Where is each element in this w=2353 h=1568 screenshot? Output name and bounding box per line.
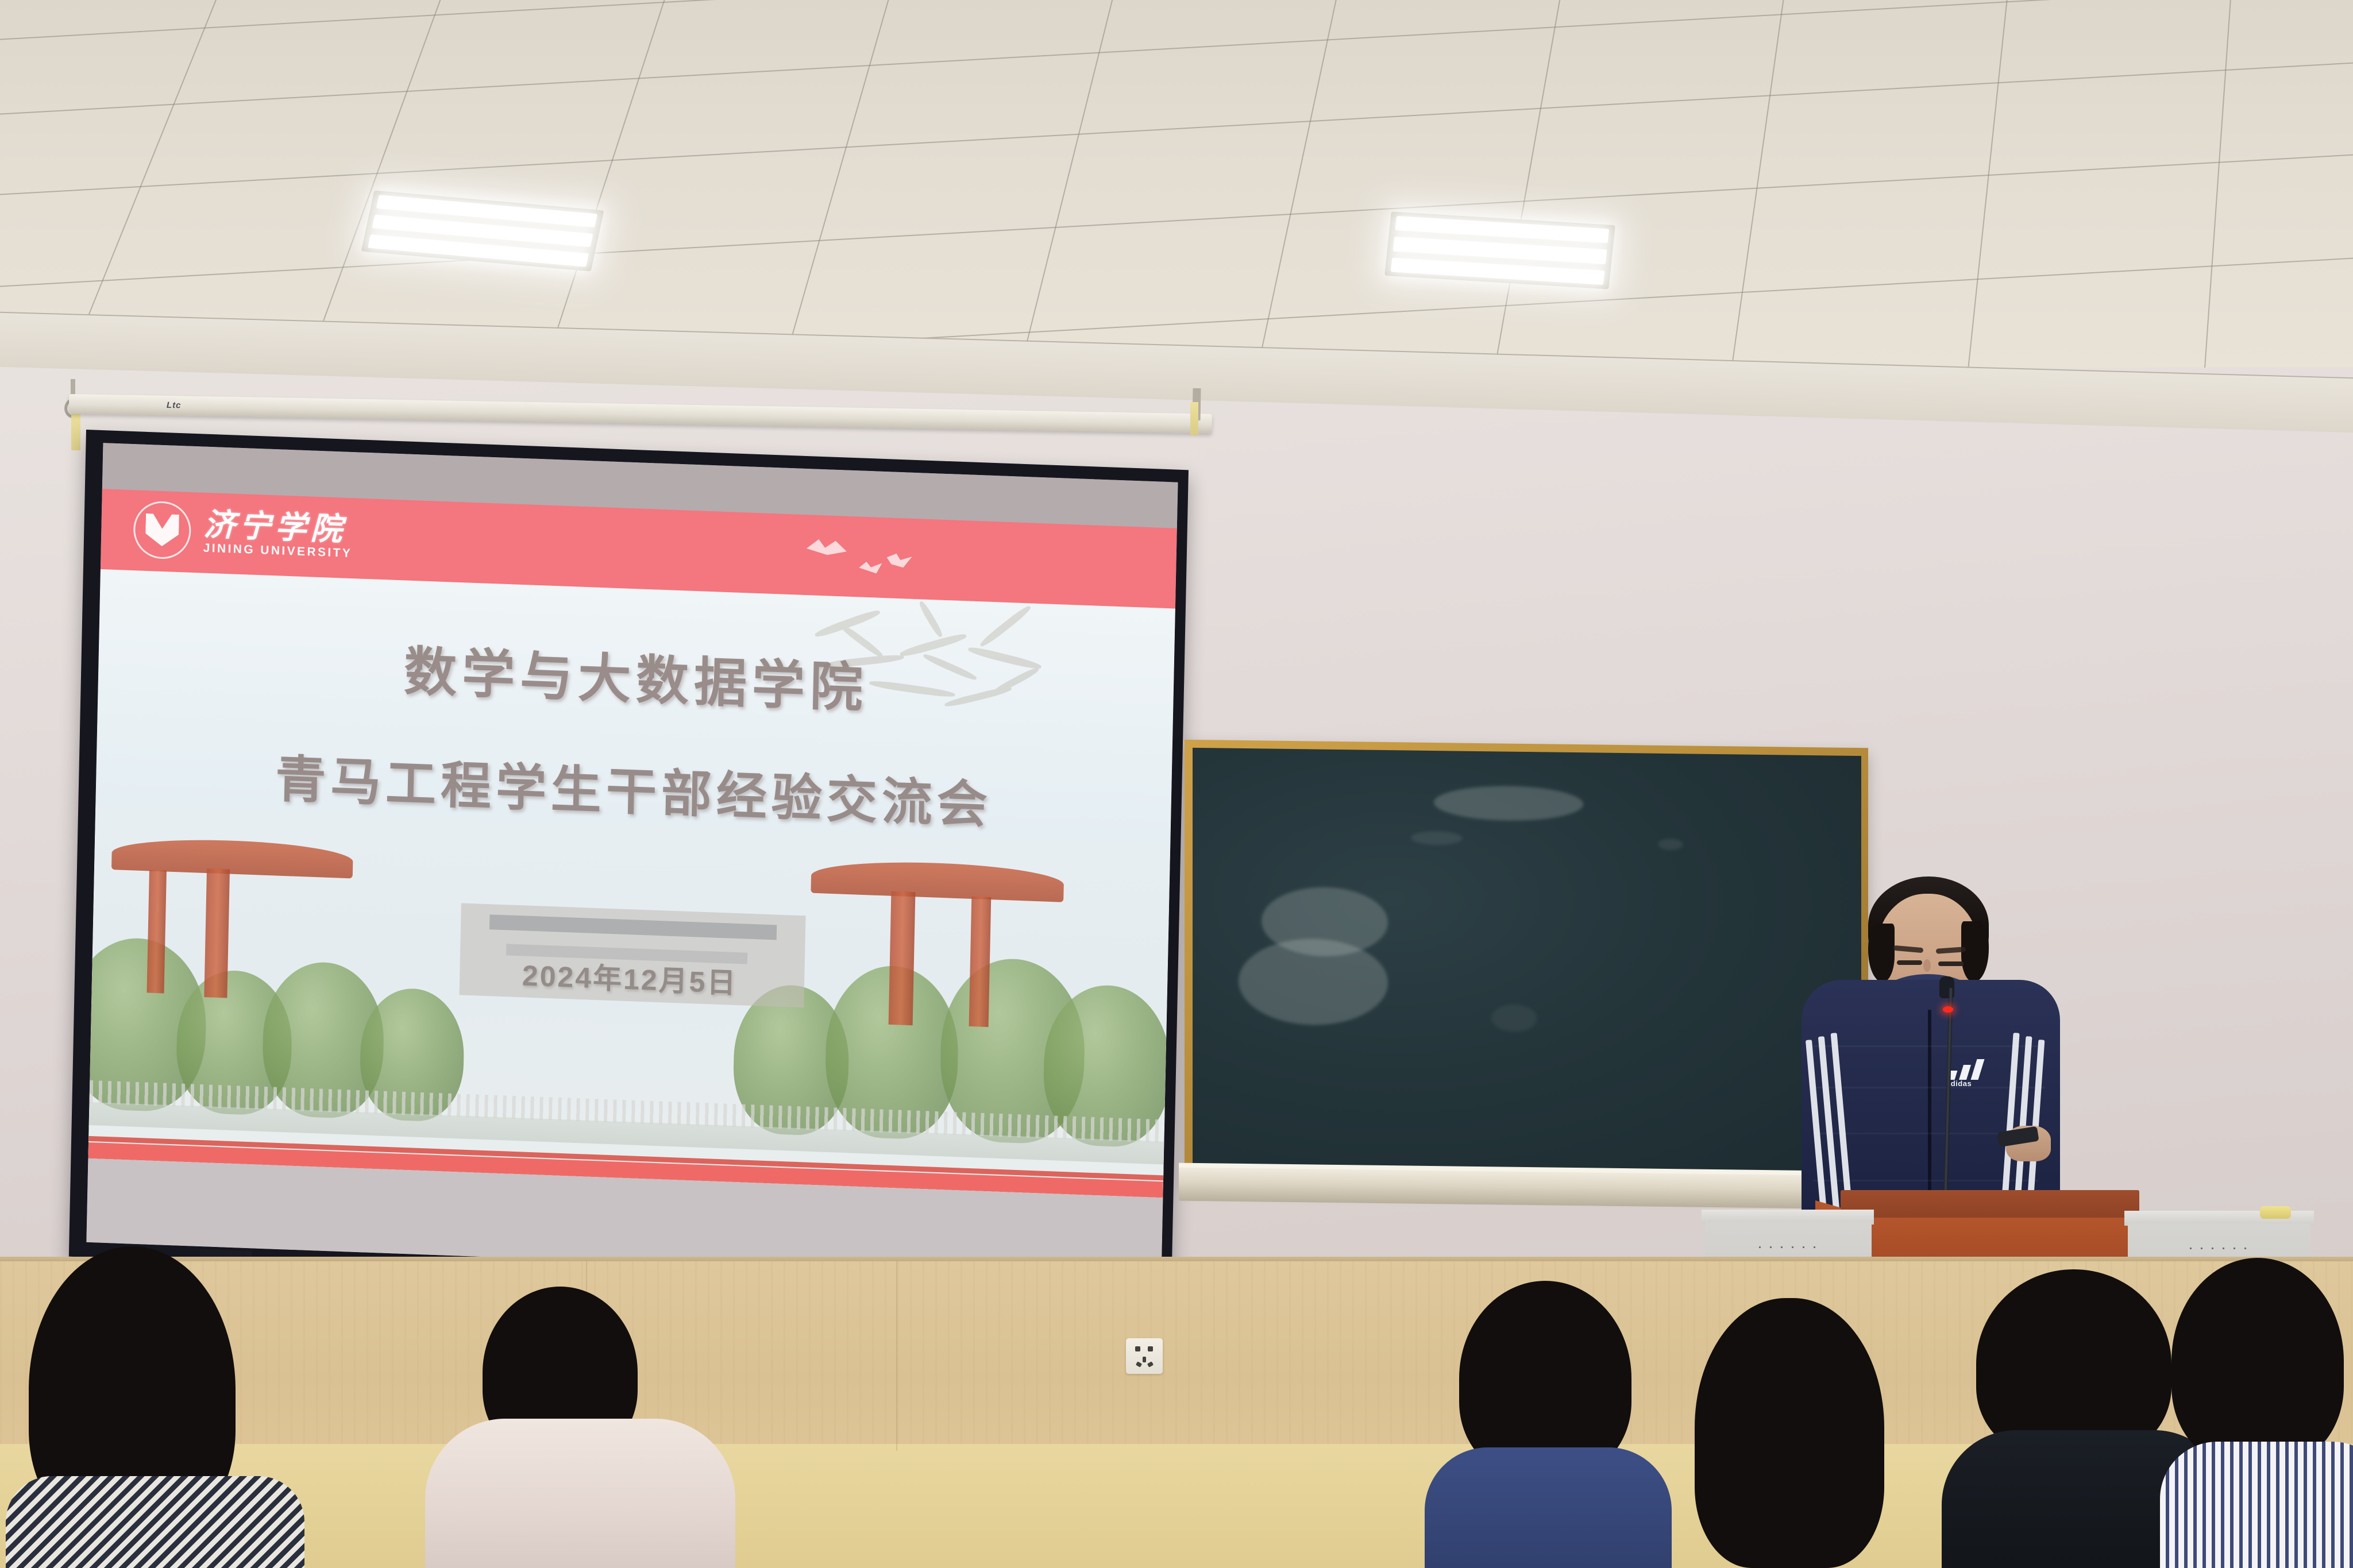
ceiling-grid-line <box>1716 0 1805 368</box>
presentation-slide: 济宁学院 JINING UNIVERSITY <box>86 443 1178 1281</box>
chalk-smudge <box>1658 839 1683 851</box>
presenter-hair-side <box>1868 924 1895 982</box>
university-emblem-icon <box>133 500 191 560</box>
slide-content-area: 数学与大数据学院 青马工程学生干部经验交流会 2024年12月5日 <box>88 569 1175 1198</box>
jacket-seam <box>1813 1045 2040 1047</box>
screen-pull-tag[interactable] <box>71 409 80 450</box>
power-outlet[interactable] <box>1126 1338 1163 1374</box>
ceiling-grid-line <box>517 0 713 368</box>
calligraphy-stroke <box>978 604 1032 648</box>
audience-garment <box>2160 1442 2353 1568</box>
audience-member <box>6 1246 373 1568</box>
adidas-logo-icon: adidas <box>1945 1057 1996 1088</box>
university-logo: 济宁学院 JINING UNIVERSITY <box>133 500 353 566</box>
chalk-smudge <box>1434 785 1583 821</box>
ceiling-grid-line <box>278 0 495 368</box>
ceiling-light-right <box>1384 211 1615 289</box>
slide-title-block: 数学与大数据学院 青马工程学生干部经验交流会 <box>95 617 1174 844</box>
audience-member <box>2160 1258 2353 1568</box>
screen-frame: 济宁学院 JINING UNIVERSITY <box>69 430 1189 1297</box>
screen-pull-tag-right[interactable] <box>1190 402 1198 435</box>
university-name-cn: 济宁学院 <box>203 508 353 546</box>
ceiling-tile-grid <box>0 0 2353 368</box>
presenter-hair-side <box>1961 921 1989 982</box>
ceiling-grid-line <box>39 0 277 368</box>
chalk-smudge <box>1411 831 1463 845</box>
wall-seam <box>896 1261 897 1451</box>
university-wordmark: 济宁学院 JINING UNIVERSITY <box>203 508 353 560</box>
chalkboard[interactable] <box>1185 740 1868 1191</box>
chalkboard-surface[interactable] <box>1193 748 1861 1181</box>
ceiling <box>0 0 2353 368</box>
flying-bird-icon <box>859 561 882 573</box>
microphone-led-icon <box>1943 1006 1953 1013</box>
desk-object[interactable] <box>2260 1206 2291 1219</box>
screen-brand-label: Ltc <box>167 400 182 410</box>
ceiling-grid-line <box>1236 0 1368 368</box>
projection-screen[interactable]: 济宁学院 JINING UNIVERSITY <box>69 430 1189 1297</box>
ceiling-grid-line <box>996 0 1150 368</box>
ceiling-grid-line <box>1956 0 2023 368</box>
audience-hair <box>1459 1281 1631 1476</box>
audience-member <box>1677 1298 1947 1568</box>
chalk-smudge <box>1491 1004 1537 1032</box>
audience-hair <box>1695 1298 1884 1568</box>
ceiling-grid-line <box>1476 0 1587 368</box>
ceiling-grid-line <box>0 0 2353 53</box>
audience-garment <box>6 1476 304 1568</box>
calligraphy-stroke <box>917 600 944 639</box>
presenter-eye <box>1897 960 1922 965</box>
audience-hair <box>2171 1258 2344 1465</box>
presenter-eye <box>1938 961 1964 966</box>
classroom-scene: Ltc 济宁学院 JINING UNIVERSITY <box>0 0 2353 1568</box>
flying-bird-icon <box>886 553 912 568</box>
presenter-nose <box>1923 959 1931 972</box>
ceiling-grid-line <box>0 132 2353 300</box>
ceiling-grid-line <box>2196 0 2242 368</box>
audience-garment <box>425 1419 735 1568</box>
flying-bird-icon <box>807 539 847 557</box>
audience-member <box>419 1287 787 1568</box>
chalk-smudge <box>1239 938 1388 1026</box>
presenter: adidas <box>1792 873 2062 1229</box>
podium-top <box>1841 1190 2139 1221</box>
ceiling-grid-line <box>757 0 932 368</box>
audience-garment <box>1425 1447 1672 1568</box>
